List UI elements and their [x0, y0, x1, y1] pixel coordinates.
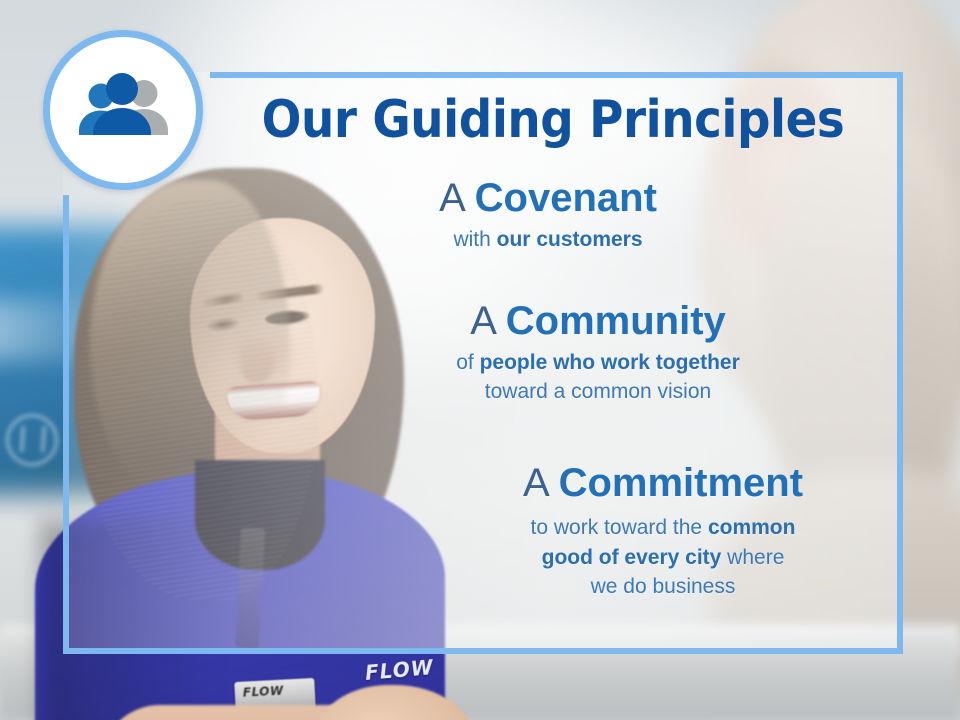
principle-covenant-heading: A Covenant	[318, 177, 778, 220]
principle-3-article: A	[523, 461, 547, 505]
principle-1-article: A	[439, 176, 463, 220]
principle-3-keyword: Commitment	[559, 461, 803, 505]
principle-3-sub-bold: common	[708, 516, 796, 539]
vehicle-emblem-icon	[6, 414, 58, 466]
text-content: Our Guiding Principles A Covenant with o…	[63, 72, 903, 654]
principle-community: A Community of people who work together …	[363, 300, 833, 406]
guiding-principles-banner: FLOW FLOW	[0, 0, 960, 720]
principle-1-sub-lead: with	[453, 228, 496, 251]
principle-covenant: A Covenant with our customers	[318, 177, 778, 255]
principle-2-sub-lead: of	[456, 351, 479, 374]
principle-community-subtitle: of people who work together toward a com…	[363, 349, 833, 406]
principle-3-sub-line2-tail: where	[721, 546, 784, 569]
principle-commitment: A Commitment to work toward the common g…	[433, 462, 893, 601]
principle-1-sub-bold: our customers	[497, 228, 643, 251]
principle-1-keyword: Covenant	[475, 176, 657, 220]
principle-community-heading: A Community	[363, 300, 833, 343]
principle-3-sub-line2: good of every city	[542, 546, 722, 569]
principle-2-keyword: Community	[506, 299, 726, 343]
name-badge-text: FLOW	[242, 684, 284, 700]
principle-3-sub-line3: we do business	[591, 575, 736, 598]
principle-3-sub-lead: to work toward the	[531, 516, 708, 539]
principle-2-sub-line2: toward a common vision	[485, 380, 711, 403]
principle-2-article: A	[470, 299, 494, 343]
principle-commitment-heading: A Commitment	[433, 462, 893, 505]
page-title: Our Guiding Principles	[256, 94, 850, 146]
principle-2-sub-bold: people who work together	[480, 351, 740, 374]
principle-commitment-subtitle: to work toward the common good of every …	[433, 513, 893, 601]
principle-covenant-subtitle: with our customers	[318, 226, 778, 254]
